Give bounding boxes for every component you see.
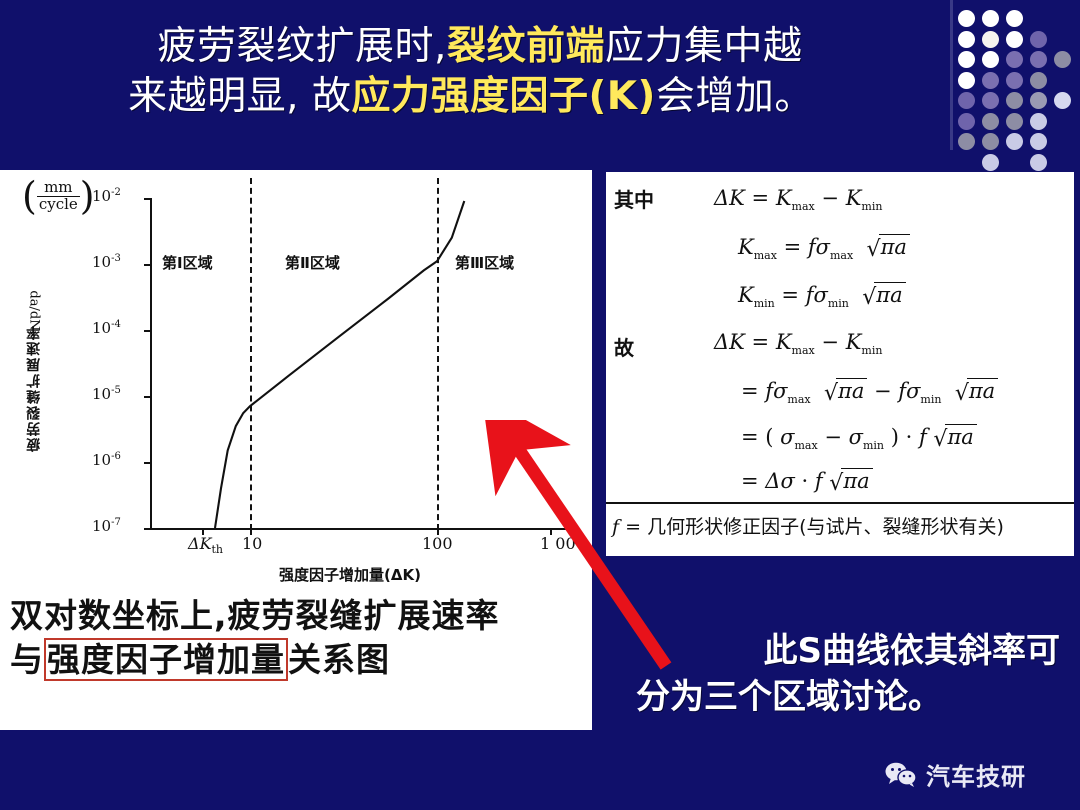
decor-dot	[1030, 154, 1047, 171]
decor-dot	[982, 113, 999, 130]
formula-row-2: Kmax = fσmax √πa	[738, 234, 910, 262]
title-l1-post: 应力集中越	[605, 24, 803, 69]
annotation-text: 此S曲线依其斜率可 分为三个区域讨论。	[636, 628, 1066, 720]
x-tick-label-3: 1 000	[540, 534, 586, 553]
y-unit-denominator: cycle	[37, 197, 80, 213]
decor-dot	[958, 31, 975, 48]
x-tick-label-2: 100	[422, 534, 453, 553]
title-line-1: 疲劳裂纹扩展时,裂纹前端应力集中越	[40, 22, 920, 72]
formula-row-7: = Δσ · f √πa	[741, 468, 873, 496]
title-line-2: 来越明显, 故应力强度因子(K)会增加。	[40, 72, 920, 122]
decor-dot	[1054, 51, 1071, 68]
decor-dot	[1030, 72, 1047, 89]
page-title: 疲劳裂纹扩展时,裂纹前端应力集中越 来越明显, 故应力强度因子(K)会增加。	[40, 22, 920, 122]
plot-area: 第Ⅰ区域 第Ⅱ区域 第Ⅲ区域 ΔKth 10 100 1 000	[150, 198, 550, 528]
caption-line-2: 与强度因子增加量关系图	[10, 638, 585, 682]
header-divider	[950, 0, 953, 150]
decor-dot	[1006, 31, 1023, 48]
figure-caption: 双对数坐标上,疲劳裂缝扩展速率 与强度因子增加量关系图	[10, 594, 585, 682]
decor-dot	[982, 92, 999, 109]
x-tick-label-0: ΔKth	[188, 534, 223, 556]
title-l2-highlight: 应力强度因子(K)	[351, 74, 655, 119]
decor-dot	[1030, 31, 1047, 48]
decor-dot	[958, 51, 975, 68]
decor-dot	[958, 72, 975, 89]
decor-dot	[1006, 72, 1023, 89]
note-text: 几何形状修正因子(与试片、裂缝形状有关)	[647, 516, 1004, 538]
annotation-line-2: 分为三个区域讨论。	[636, 674, 1066, 720]
watermark-text: 汽车技研	[926, 757, 1026, 792]
note-symbol: f	[612, 516, 619, 538]
formula-row-4: ΔK = Kmax − Kmin	[714, 330, 882, 357]
caption-line-1: 双对数坐标上,疲劳裂缝扩展速率	[10, 594, 585, 638]
note-equals: =	[625, 516, 641, 538]
formula-row-1: ΔK = Kmax − Kmin	[714, 186, 882, 213]
paren-open: (	[22, 180, 37, 212]
label-where-text: 其中	[614, 188, 654, 212]
annotation-line-1: 此S曲线依其斜率可	[636, 628, 1066, 674]
slide-root: 疲劳裂纹扩展时,裂纹前端应力集中越 来越明显, 故应力强度因子(K)会增加。 (…	[0, 0, 1080, 810]
formula-row-5: = fσmax √πa − fσmin √πa	[741, 378, 998, 406]
dot-grid-decoration	[958, 10, 1080, 175]
formula-label-where: 其中	[614, 184, 654, 213]
slide-header: 疲劳裂纹扩展时,裂纹前端应力集中越 来越明显, 故应力强度因子(K)会增加。	[0, 0, 1080, 160]
decor-dot	[1006, 51, 1023, 68]
wechat-icon	[885, 762, 917, 788]
y-axis-title: 疲劳裂缝扩展速率da/dN	[18, 252, 50, 502]
dadn-symbol: da/dN	[27, 290, 42, 330]
decor-dot	[1006, 10, 1023, 27]
decor-dot	[982, 133, 999, 150]
x-tick-sub: th	[212, 543, 224, 556]
formula-panel: 其中 ΔK = Kmax − Kmin Kmax = fσmax √πa Kmi…	[606, 172, 1074, 556]
caption-highlight-box: 强度因子增加量	[44, 638, 288, 681]
formula-row-6: = ( σmax − σmin ) · f √πa	[741, 424, 977, 452]
title-l2-pre: 来越明显, 故	[128, 74, 351, 119]
decor-dot	[1006, 113, 1023, 130]
label-therefore-text: 故	[614, 336, 634, 360]
decor-dot	[982, 10, 999, 27]
formula-label-therefore: 故	[614, 332, 634, 361]
title-l1-pre: 疲劳裂纹扩展时,	[158, 24, 447, 69]
caption-l2-post: 关系图	[288, 640, 390, 679]
decor-dot	[1054, 92, 1071, 109]
decor-dot	[1006, 133, 1023, 150]
formula-separator	[606, 502, 1074, 504]
caption-l2-pre: 与	[10, 640, 44, 679]
chart-panel: (mmcycle) 疲劳裂缝扩展速率da/dN 10-210-310-410-5…	[0, 170, 592, 730]
formula-note: f = 几何形状修正因子(与试片、裂缝形状有关)	[612, 512, 1004, 539]
x-axis-title: 强度因子增加量(ΔK)	[150, 564, 550, 585]
decor-dot	[1006, 92, 1023, 109]
decor-dot	[1030, 51, 1047, 68]
title-l2-post: 会增加。	[656, 74, 814, 119]
decor-dot	[958, 133, 975, 150]
decor-dot	[958, 10, 975, 27]
decor-dot	[1030, 92, 1047, 109]
y-axis-title-text: 疲劳裂缝扩展速率da/dN	[14, 303, 54, 452]
decor-dot	[1030, 113, 1047, 130]
decor-dot	[958, 113, 975, 130]
figure: (mmcycle) 疲劳裂缝扩展速率da/dN 10-210-310-410-5…	[0, 170, 592, 590]
decor-dot	[982, 72, 999, 89]
decor-dot	[958, 92, 975, 109]
x-tick-label-1: 10	[242, 534, 262, 553]
decor-dot	[1030, 133, 1047, 150]
decor-dot	[982, 51, 999, 68]
decor-dot	[982, 31, 999, 48]
data-curve	[150, 198, 550, 533]
title-l1-highlight: 裂纹前端	[447, 24, 605, 69]
formula-row-3: Kmin = fσmin √πa	[738, 282, 906, 310]
decor-dot	[982, 154, 999, 171]
watermark: 汽车技研	[885, 757, 1026, 792]
